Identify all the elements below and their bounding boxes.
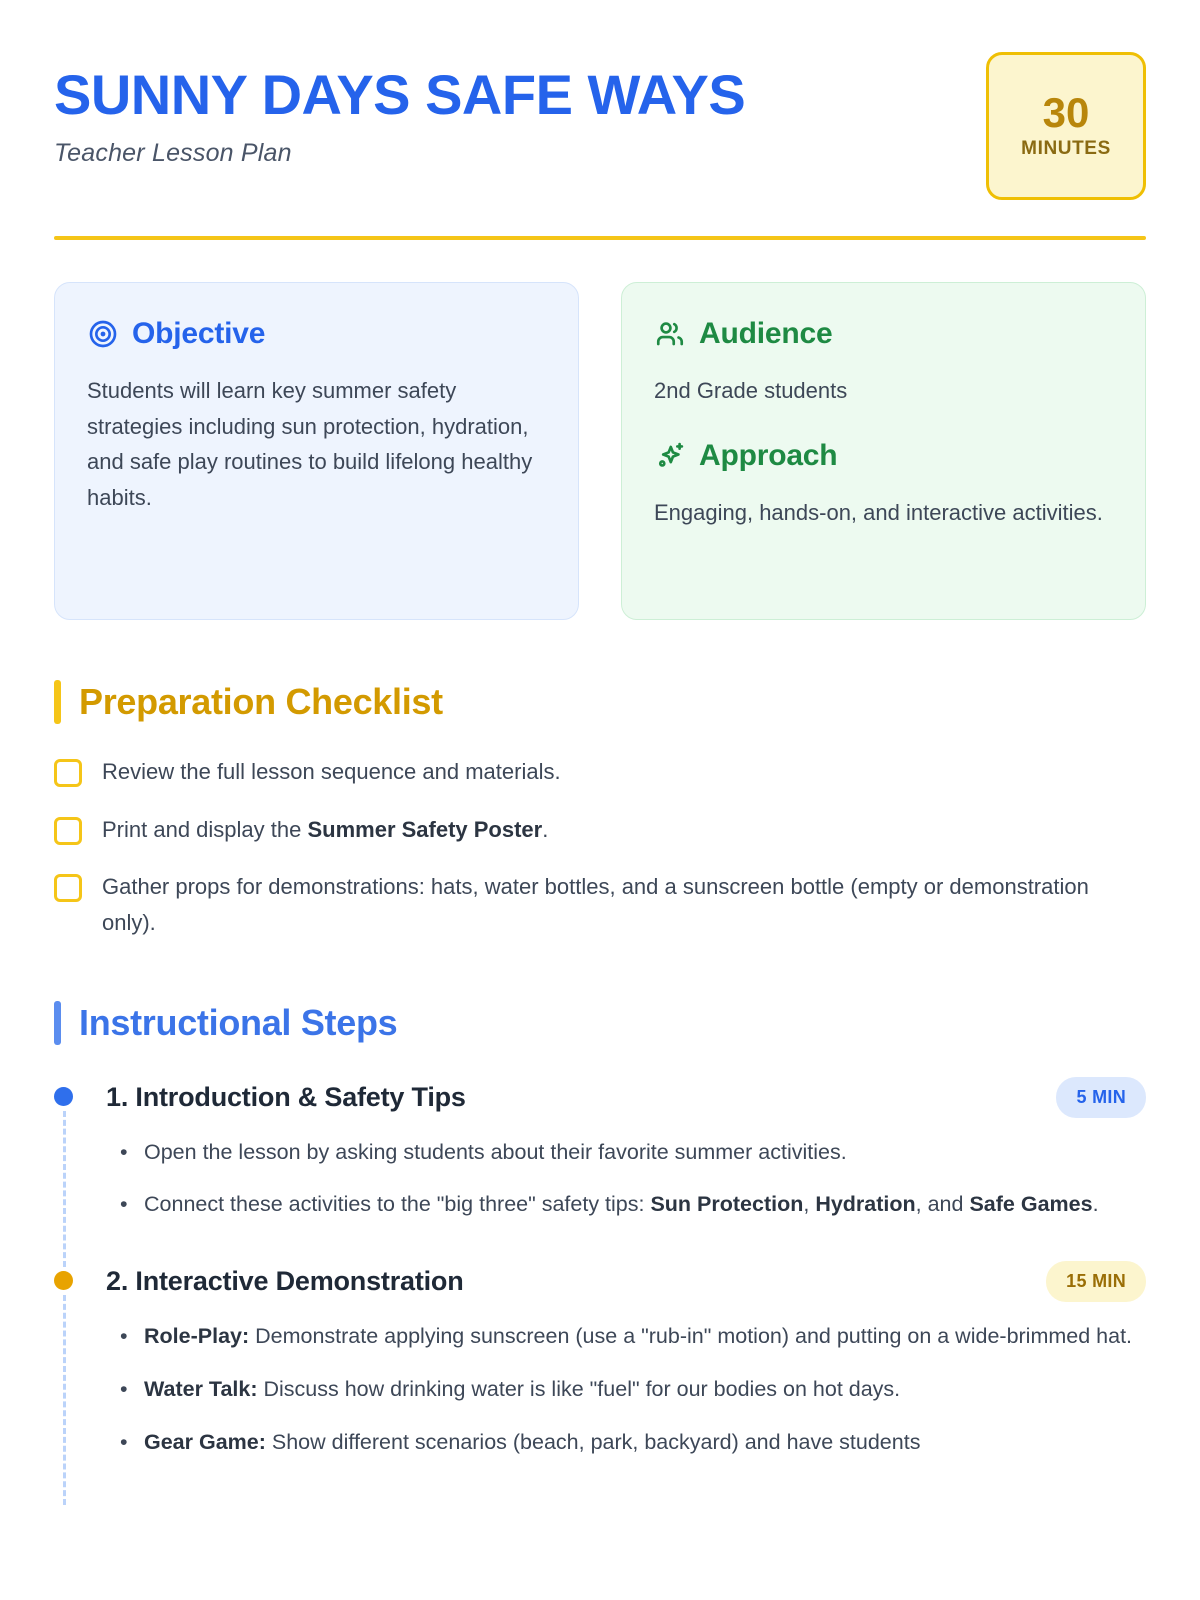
step-title: 1. Introduction & Safety Tips: [106, 1082, 466, 1113]
objective-card: Objective Students will learn key summer…: [54, 282, 579, 620]
approach-title: Approach: [699, 439, 837, 473]
step-bullet-list: Open the lesson by asking students about…: [106, 1134, 1146, 1224]
page-subtitle: Teacher Lesson Plan: [54, 139, 745, 168]
checklist-item[interactable]: Gather props for demonstrations: hats, w…: [54, 869, 1146, 940]
step-bullet: Water Talk: Discuss how drinking water i…: [106, 1371, 1146, 1408]
step-duration-badge: 15 MIN: [1046, 1261, 1146, 1302]
step-bullet: Gear Game: Show different scenarios (bea…: [106, 1424, 1146, 1461]
step-marker-dot: [54, 1271, 73, 1290]
audience-body: 2nd Grade students: [654, 373, 1113, 409]
audience-card-header: Audience: [654, 317, 1113, 351]
instructional-heading-label: Instructional Steps: [79, 1002, 397, 1044]
checklist-item-text: Print and display the Summer Safety Post…: [102, 812, 548, 848]
section-accent-bar: [54, 680, 61, 724]
checkbox-icon[interactable]: [54, 874, 82, 902]
instructional-heading: Instructional Steps: [54, 1001, 1146, 1045]
approach-body: Engaging, hands-on, and interactive acti…: [654, 495, 1113, 531]
duration-badge: 30 MINUTES: [986, 52, 1146, 200]
document-header: SUNNY DAYS SAFE WAYS Teacher Lesson Plan…: [54, 52, 1146, 200]
checkbox-icon[interactable]: [54, 759, 82, 787]
sparkles-icon: [654, 440, 686, 472]
step-item: 1. Introduction & Safety Tips 5 MIN Open…: [54, 1077, 1146, 1262]
step-marker-dot: [54, 1087, 73, 1106]
instructional-steps-list: 1. Introduction & Safety Tips 5 MIN Open…: [54, 1077, 1146, 1500]
preparation-heading-label: Preparation Checklist: [79, 681, 443, 723]
step-title: 2. Interactive Demonstration: [106, 1266, 464, 1297]
step-item: 2. Interactive Demonstration 15 MIN Role…: [54, 1261, 1146, 1499]
info-cards-row: Objective Students will learn key summer…: [54, 282, 1146, 620]
checkbox-icon[interactable]: [54, 817, 82, 845]
objective-body: Students will learn key summer safety st…: [87, 373, 546, 516]
target-icon: [87, 318, 119, 350]
section-accent-bar: [54, 1001, 61, 1045]
audience-approach-card: Audience 2nd Grade students Approach Eng…: [621, 282, 1146, 620]
header-title-block: SUNNY DAYS SAFE WAYS Teacher Lesson Plan: [54, 52, 745, 168]
checklist-item[interactable]: Review the full lesson sequence and mate…: [54, 754, 1146, 790]
preparation-heading: Preparation Checklist: [54, 680, 1146, 724]
step-bullet: Role-Play: Demonstrate applying sunscree…: [106, 1318, 1146, 1355]
header-divider: [54, 236, 1146, 240]
step-bullet: Connect these activities to the "big thr…: [106, 1186, 1146, 1223]
approach-section: Approach Engaging, hands-on, and interac…: [654, 439, 1113, 531]
step-timeline-line: [63, 1111, 66, 1268]
step-bullet-list: Role-Play: Demonstrate applying sunscree…: [106, 1318, 1146, 1461]
step-duration-badge: 5 MIN: [1056, 1077, 1146, 1118]
lesson-plan-document: SUNNY DAYS SAFE WAYS Teacher Lesson Plan…: [0, 0, 1200, 1600]
objective-title: Objective: [132, 317, 265, 351]
duration-number: 30: [1043, 92, 1090, 134]
page-title: SUNNY DAYS SAFE WAYS: [54, 66, 745, 125]
checklist-item-text: Review the full lesson sequence and mate…: [102, 754, 561, 790]
step-bullet: Open the lesson by asking students about…: [106, 1134, 1146, 1171]
preparation-checklist: Review the full lesson sequence and mate…: [54, 754, 1146, 941]
checklist-item[interactable]: Print and display the Summer Safety Post…: [54, 812, 1146, 848]
audience-title: Audience: [699, 317, 832, 351]
checklist-item-text: Gather props for demonstrations: hats, w…: [102, 869, 1146, 940]
duration-unit: MINUTES: [1021, 138, 1111, 160]
step-header: 1. Introduction & Safety Tips 5 MIN: [106, 1077, 1146, 1118]
step-header: 2. Interactive Demonstration 15 MIN: [106, 1261, 1146, 1302]
approach-card-header: Approach: [654, 439, 1113, 473]
step-timeline-line: [63, 1295, 66, 1505]
users-icon: [654, 318, 686, 350]
objective-card-header: Objective: [87, 317, 546, 351]
